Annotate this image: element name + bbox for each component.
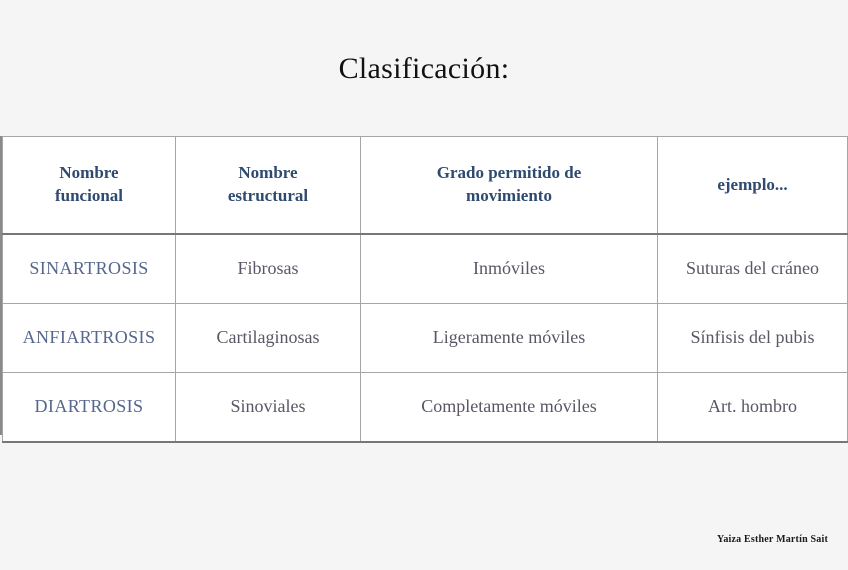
column-header-line-1: Grado permitido de	[437, 163, 582, 182]
classification-table-container: Nombre funcional Nombre estructural Grad…	[2, 136, 847, 443]
page-title: Clasificación:	[0, 52, 848, 86]
author-signature: Yaiza Esther Martín Sait	[717, 534, 828, 545]
cell-example: Art. hombro	[658, 373, 848, 443]
table-row: SINARTROSIS Fibrosas Inmóviles Suturas d…	[3, 234, 848, 304]
table-body: SINARTROSIS Fibrosas Inmóviles Suturas d…	[3, 234, 848, 442]
column-header-line-2: movimiento	[466, 186, 552, 205]
cell-functional: SINARTROSIS	[3, 234, 176, 304]
column-header-line-1: ejemplo...	[717, 175, 787, 194]
table-row: DIARTROSIS Sinoviales Completamente móvi…	[3, 373, 848, 443]
cell-structural: Cartilaginosas	[176, 304, 361, 373]
column-header-line-2: funcional	[55, 186, 123, 205]
column-header-line-1: Nombre	[59, 163, 118, 182]
slide-canvas: Clasificación: Nombre funcional Nombre e	[0, 0, 848, 570]
table-header: Nombre funcional Nombre estructural Grad…	[3, 137, 848, 235]
column-header-nombre-estructural: Nombre estructural	[176, 137, 361, 235]
column-header-ejemplo: ejemplo...	[658, 137, 848, 235]
cell-example: Suturas del cráneo	[658, 234, 848, 304]
classification-table: Nombre funcional Nombre estructural Grad…	[2, 136, 848, 443]
column-header-line-2: estructural	[228, 186, 308, 205]
column-header-grado-movimiento: Grado permitido de movimiento	[361, 137, 658, 235]
table-header-row: Nombre funcional Nombre estructural Grad…	[3, 137, 848, 235]
cell-functional: ANFIARTROSIS	[3, 304, 176, 373]
cell-structural: Fibrosas	[176, 234, 361, 304]
cell-movement: Completamente móviles	[361, 373, 658, 443]
cell-movement: Ligeramente móviles	[361, 304, 658, 373]
cell-functional: DIARTROSIS	[3, 373, 176, 443]
cell-movement: Inmóviles	[361, 234, 658, 304]
column-header-nombre-funcional: Nombre funcional	[3, 137, 176, 235]
column-header-line-1: Nombre	[238, 163, 297, 182]
cell-structural: Sinoviales	[176, 373, 361, 443]
table-row: ANFIARTROSIS Cartilaginosas Ligeramente …	[3, 304, 848, 373]
cell-example: Sínfisis del pubis	[658, 304, 848, 373]
